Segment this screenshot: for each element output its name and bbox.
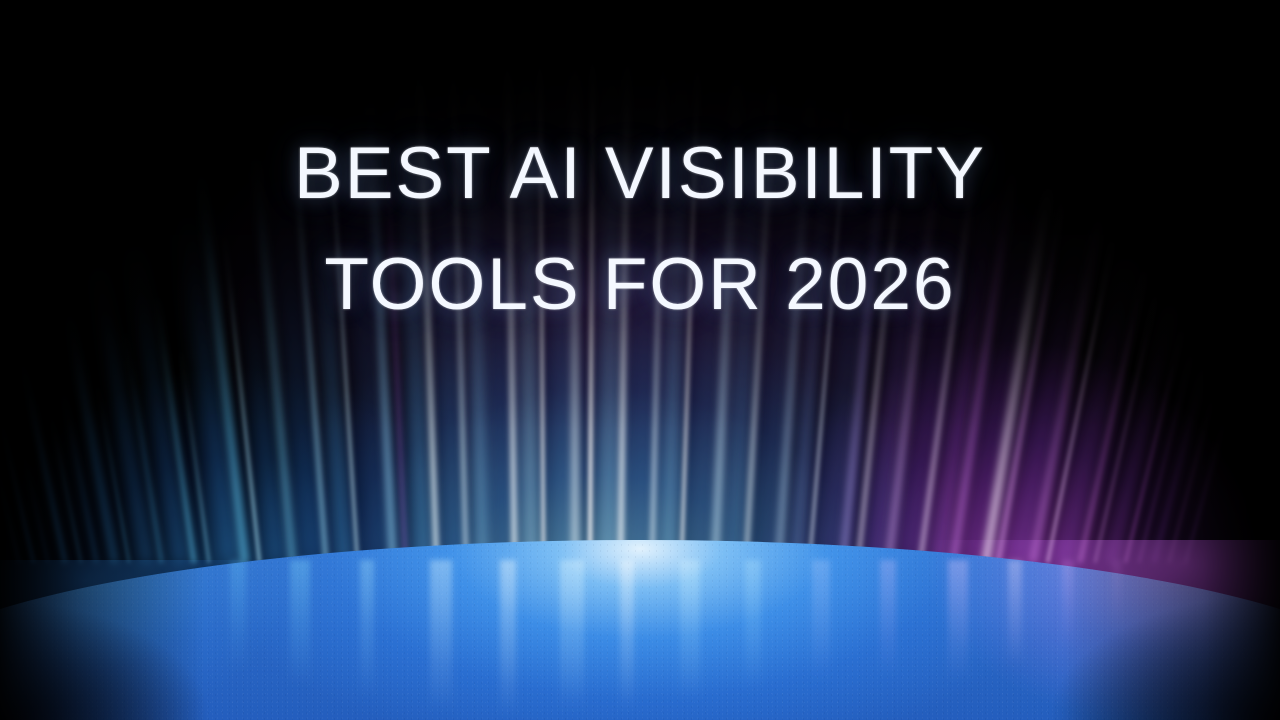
light-beam <box>223 235 261 563</box>
light-beam <box>902 175 966 564</box>
light-beam <box>1078 270 1146 564</box>
light-beam <box>712 43 742 563</box>
light-beam <box>744 59 777 563</box>
light-beam <box>776 84 814 563</box>
light-beam <box>1152 369 1206 564</box>
light-beam <box>521 48 536 563</box>
light-beam <box>66 312 117 564</box>
light-beam <box>19 357 67 563</box>
light-beam-field <box>0 0 1280 720</box>
light-beam <box>1168 394 1215 564</box>
light-beam <box>1108 304 1174 563</box>
light-beam <box>618 11 631 563</box>
light-beam <box>996 198 1064 563</box>
light-beam <box>966 206 1039 564</box>
light-beam <box>856 135 905 563</box>
light-beam <box>1030 214 1103 563</box>
light-beam <box>94 266 150 563</box>
light-beam <box>632 83 658 563</box>
light-beam <box>486 93 511 563</box>
light-beam <box>0 402 35 563</box>
light-beam <box>180 350 210 563</box>
light-beam <box>252 145 295 564</box>
light-beam <box>664 48 687 563</box>
light-beam <box>365 73 396 563</box>
light-beam <box>538 8 545 563</box>
light-beam <box>934 186 997 563</box>
light-beam <box>1094 295 1157 564</box>
light-beam <box>1012 228 1087 565</box>
light-beam <box>311 154 349 564</box>
light-beam <box>123 331 163 564</box>
light-beam <box>728 73 764 563</box>
light-beam <box>416 43 439 563</box>
light-beam <box>197 170 248 563</box>
light-beam <box>918 157 978 564</box>
light-beam <box>0 436 20 563</box>
light-beam <box>504 18 517 563</box>
light-beam <box>50 416 82 563</box>
light-beam <box>290 114 328 563</box>
light-beam <box>154 295 196 563</box>
light-beam <box>602 43 619 563</box>
light-beam <box>433 83 462 563</box>
title-card-scene: BEST AI VISIBILITY TOOLS FOR 2026 <box>0 0 1280 720</box>
light-beam <box>1138 354 1192 563</box>
light-beam <box>97 386 130 564</box>
light-beam <box>326 94 359 563</box>
light-beam <box>760 113 804 563</box>
light-beam <box>808 95 850 564</box>
light-beam <box>1124 329 1183 563</box>
light-beam <box>450 33 468 563</box>
light-beam <box>242 264 282 563</box>
light-beam <box>129 246 185 564</box>
light-beam <box>383 108 407 563</box>
light-beam <box>680 18 701 563</box>
light-beam <box>398 63 429 563</box>
light-beam <box>588 3 595 563</box>
light-beam <box>870 165 927 564</box>
light-beam <box>62 391 98 563</box>
light-beam <box>886 141 942 564</box>
light-beam <box>274 184 320 564</box>
light-beam <box>467 58 486 563</box>
light-beam <box>650 23 666 563</box>
light-beam <box>21 446 49 564</box>
light-beam <box>1060 259 1134 564</box>
light-beam <box>572 15 578 563</box>
light-beam <box>982 183 1053 564</box>
light-beam <box>950 167 1016 563</box>
light-beam <box>1184 418 1226 564</box>
light-beam <box>181 210 236 564</box>
light-beam <box>822 144 877 564</box>
light-beam <box>792 109 835 563</box>
light-beam <box>1046 239 1114 563</box>
light-beam <box>348 133 388 563</box>
light-beam <box>840 115 890 563</box>
light-beam <box>554 73 571 563</box>
light-beam <box>694 93 728 563</box>
